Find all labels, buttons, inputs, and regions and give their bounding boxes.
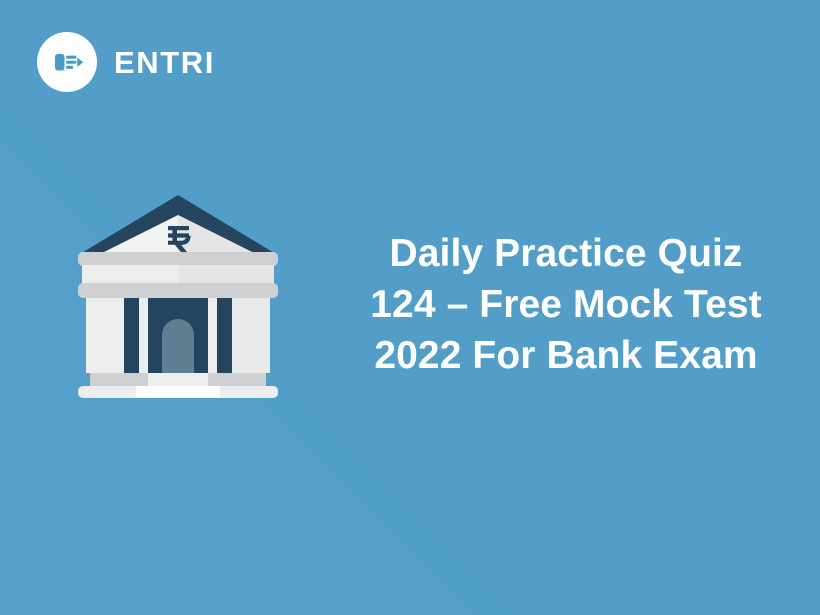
page-title-line-2: 124 – Free Mock Test: [330, 279, 802, 330]
page-title-line-1: Daily Practice Quiz: [330, 228, 802, 279]
brand-logo[interactable]: ENTRI: [37, 32, 215, 92]
entri-play-mark-icon: [37, 32, 97, 92]
promo-banner: ENTRI: [0, 0, 820, 615]
brand-wordmark: ENTRI: [114, 47, 215, 78]
bank-building-icon: [76, 193, 280, 398]
page-title-line-3: 2022 For Bank Exam: [330, 330, 802, 381]
page-title: Daily Practice Quiz 124 – Free Mock Test…: [330, 228, 802, 381]
